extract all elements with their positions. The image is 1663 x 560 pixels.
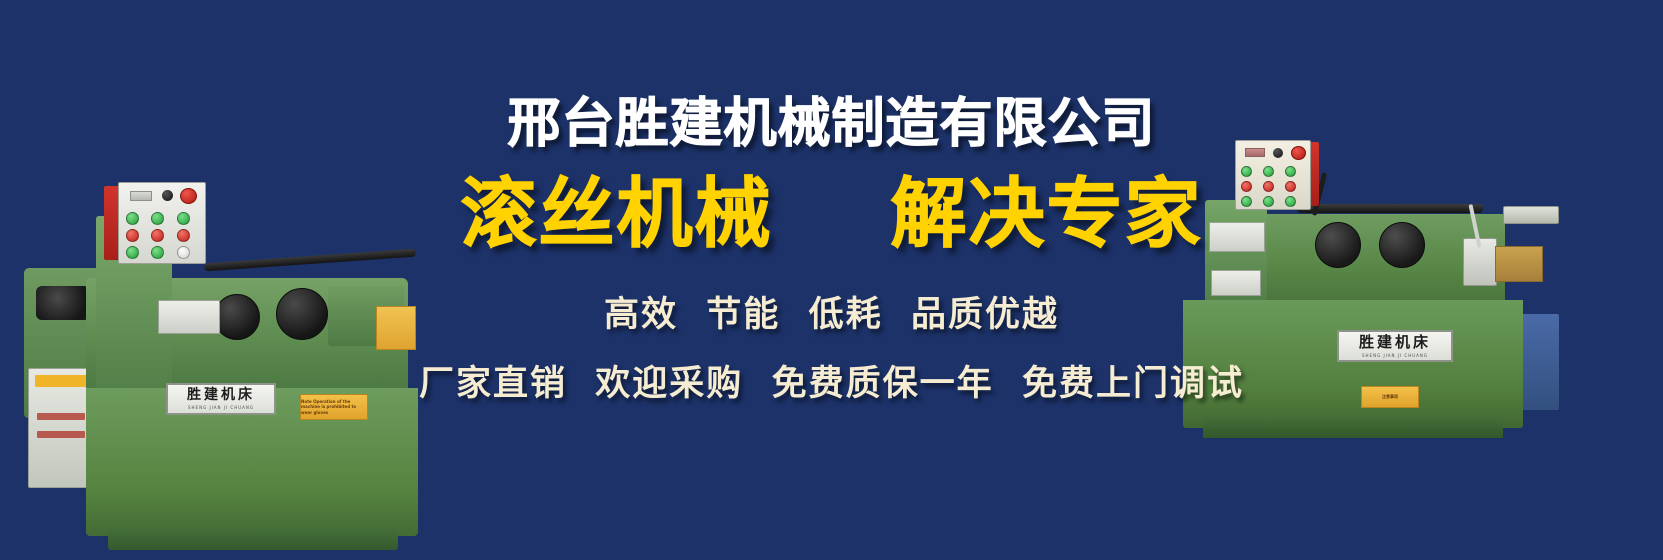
subline-services: 厂家直销 欢迎采购 免费质保一年 免费上门调试 — [0, 355, 1663, 406]
headline-right: 解决专家 — [891, 176, 1203, 252]
subline-features: 高效 节能 低耗 品质优越 — [0, 286, 1663, 337]
company-name: 邢台胜建机械制造有限公司 — [0, 96, 1663, 152]
machine-left-nameplate-pinyin: SHENG JIAN JI CHUANG — [188, 405, 254, 410]
machine-left-door-text-1 — [37, 413, 85, 420]
promotional-banner: 胜建机床 SHENG JIAN JI CHUANG Note Operation… — [0, 0, 1663, 560]
machine-left-base — [108, 528, 398, 550]
headline-row: 滚丝机械 解决专家 — [0, 176, 1663, 252]
machine-right-base — [1203, 418, 1503, 438]
machine-left-door-text-2 — [37, 431, 85, 438]
headline-left: 滚丝机械 — [461, 176, 773, 252]
banner-text-block: 邢台胜建机械制造有限公司 滚丝机械 解决专家 高效 节能 低耗 品质优越 厂家直… — [0, 96, 1663, 406]
